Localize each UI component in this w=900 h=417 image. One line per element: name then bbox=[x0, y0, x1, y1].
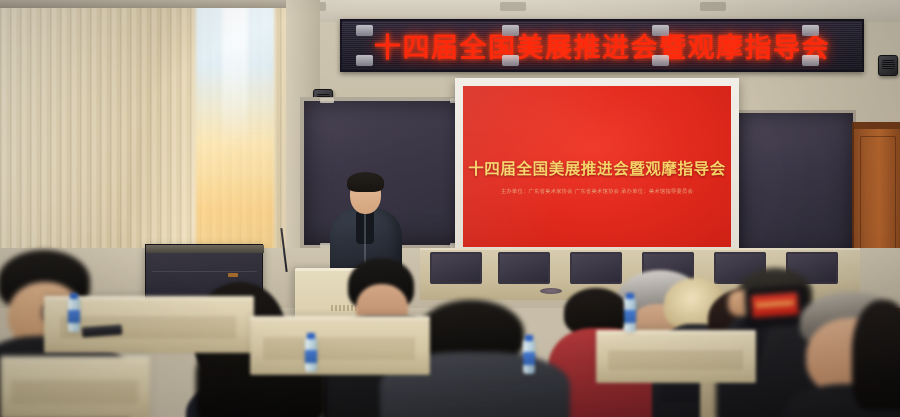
audience-desk bbox=[250, 316, 430, 375]
water-bottle bbox=[305, 338, 317, 372]
slide-title: 十四届全国美展推进会暨观摩指导会 bbox=[468, 157, 726, 179]
projection-screen: 十四届全国美展推进会暨观摩指导会 主办单位：广东省美术家协会 广东省美术馆协会 … bbox=[455, 78, 739, 255]
water-bottle bbox=[624, 298, 636, 332]
conference-room-photo: 十四届全国美展推进会暨观摩指导会 十四届全国美展推进会暨观摩指导会 主办单位：广… bbox=[0, 0, 900, 417]
audience-desk bbox=[596, 330, 756, 383]
led-banner: 十四届全国美展推进会暨观摩指导会 bbox=[340, 19, 864, 72]
vent-icon bbox=[500, 2, 526, 11]
audience-right-edge bbox=[852, 300, 900, 417]
door-trim bbox=[854, 122, 900, 129]
audience-desk bbox=[0, 356, 150, 417]
cabinet-top bbox=[146, 245, 264, 253]
blackboard-right bbox=[736, 110, 856, 260]
speaker-icon bbox=[878, 55, 898, 76]
status-led-icon bbox=[228, 273, 238, 277]
led-banner-text: 十四届全国美展推进会暨观摩指导会 bbox=[374, 26, 830, 65]
presenter-hair bbox=[347, 172, 384, 192]
water-bottle bbox=[523, 340, 535, 374]
window-glare bbox=[222, 0, 248, 150]
slide-subtitle: 主办单位：广东省美术家协会 广东省美术馆协会 承办单位：美术馆指导委员会 bbox=[501, 188, 693, 195]
water-bottle bbox=[68, 298, 80, 332]
vent-icon bbox=[700, 2, 726, 11]
curtain-rail bbox=[0, 0, 318, 8]
desk-monitor bbox=[498, 252, 550, 284]
screen-slide: 十四届全国美展推进会暨观摩指导会 主办单位：广东省美术家协会 广东省美术馆协会 … bbox=[463, 86, 731, 247]
